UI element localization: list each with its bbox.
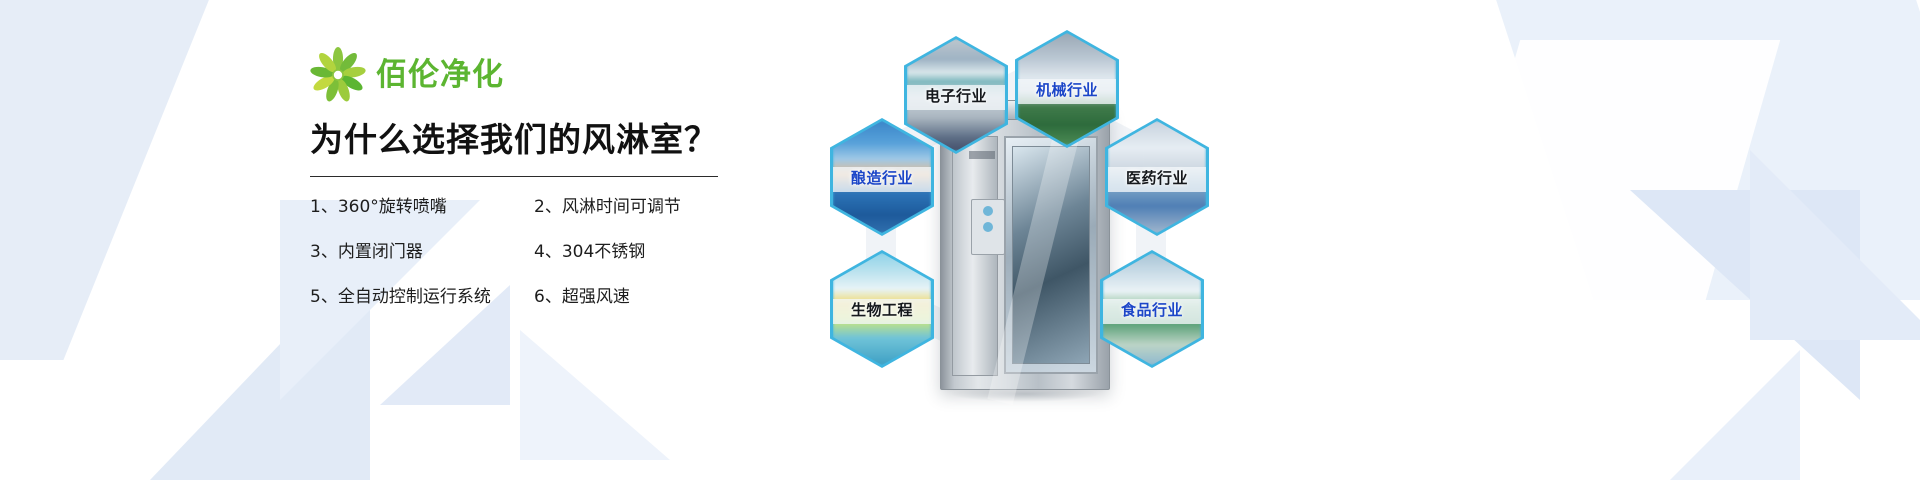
feature-row: 1、360°旋转喷嘴 2、风淋时间可调节 xyxy=(310,199,740,216)
feature-item: 5、全自动控制运行系统 xyxy=(310,289,534,306)
feature-item: 3、内置闭门器 xyxy=(310,244,534,261)
brand-name: 佰伦净化 xyxy=(376,60,504,91)
feature-list: 1、360°旋转喷嘴 2、风淋时间可调节 3、内置闭门器 4、304不锈钢 5、… xyxy=(310,199,740,306)
cabinet-door xyxy=(1004,136,1098,374)
industry-label: 酿造行业 xyxy=(851,167,913,188)
feature-row: 3、内置闭门器 4、304不锈钢 xyxy=(310,244,740,261)
bg-triangle-bottom-right xyxy=(1610,350,1800,480)
flower-logo-icon xyxy=(310,47,366,103)
cabinet-control-panel xyxy=(971,199,1005,255)
bg-triangle-right xyxy=(1630,190,1860,400)
feature-item: 4、304不锈钢 xyxy=(534,244,740,261)
air-shower-room-image xyxy=(940,110,1110,390)
industry-label: 机械行业 xyxy=(1036,79,1098,100)
industry-label: 医药行业 xyxy=(1126,167,1188,188)
bg-wedge-right xyxy=(1486,0,1920,300)
banner-text-block: 佰伦净化 为什么选择我们的风淋室？ 1、360°旋转喷嘴 2、风淋时间可调节 3… xyxy=(310,48,740,306)
industry-label: 生物工程 xyxy=(851,299,913,320)
bg-wedge-white-right xyxy=(1400,40,1780,460)
feature-row: 5、全自动控制运行系统 6、超强风速 xyxy=(310,289,740,306)
cabinet-door-glass xyxy=(1012,146,1090,364)
feature-item: 2、风淋时间可调节 xyxy=(534,199,740,216)
page-title: 为什么选择我们的风淋室？ xyxy=(310,120,740,160)
bg-triangle-far-right xyxy=(1750,150,1920,340)
feature-item: 6、超强风速 xyxy=(534,289,740,306)
cabinet-nameplate xyxy=(969,151,995,159)
cabinet-side-panel xyxy=(952,136,998,376)
industry-label: 食品行业 xyxy=(1121,299,1183,320)
title-divider xyxy=(310,176,718,177)
control-indicator-icon xyxy=(983,206,993,216)
promo-banner: 佰伦净化 为什么选择我们的风淋室？ 1、360°旋转喷嘴 2、风淋时间可调节 3… xyxy=(0,0,1920,480)
control-indicator-icon xyxy=(983,222,993,232)
bg-triangle-bottom-center xyxy=(520,330,670,460)
industry-hexagon-cluster: 电子行业 机械行业 酿造行业 医药行业 xyxy=(800,0,1360,480)
brand-lockup: 佰伦净化 xyxy=(310,48,740,102)
feature-item: 1、360°旋转喷嘴 xyxy=(310,199,534,216)
industry-label: 电子行业 xyxy=(925,85,987,106)
